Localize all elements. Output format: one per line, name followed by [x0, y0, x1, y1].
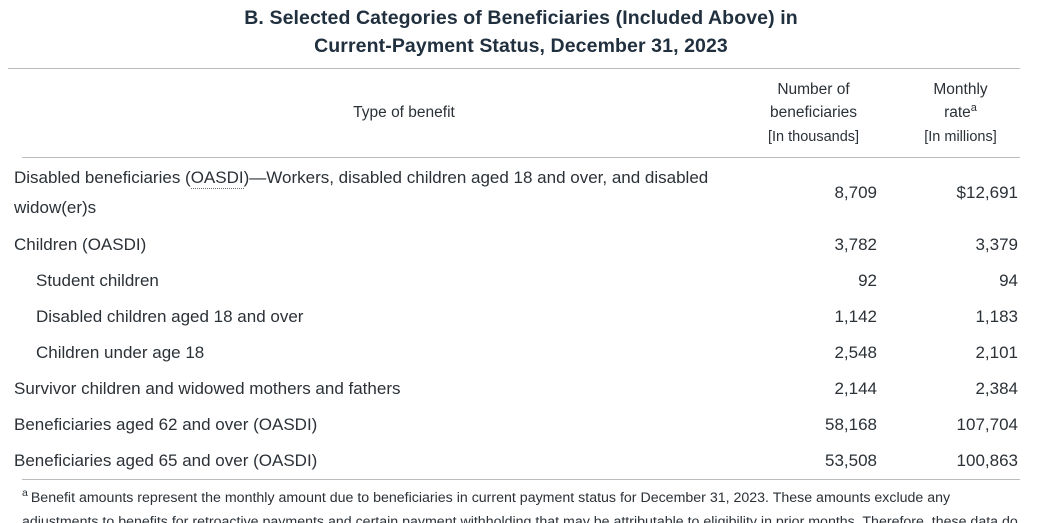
- footnote-marker-superscript: a: [971, 102, 977, 114]
- row-label-text: Disabled beneficiaries (: [14, 168, 191, 187]
- table-row: Survivor children and widowed mothers an…: [0, 371, 1042, 407]
- row-label-abbreviation: OASDI: [191, 168, 244, 189]
- cell-number-of-beneficiaries: 58,168: [748, 407, 903, 443]
- row-label: Children under age 18: [0, 335, 748, 371]
- footnote-marker: a: [22, 487, 31, 499]
- table-row: Beneficiaries aged 62 and over (OASDI)58…: [0, 407, 1042, 443]
- beneficiaries-table-body: Disabled beneficiaries (OASDI)—Workers, …: [0, 158, 1042, 479]
- cell-number-of-beneficiaries: 3,782: [748, 227, 903, 263]
- row-label: Children (OASDI): [0, 227, 748, 263]
- column-header-line-1: Monthly: [933, 81, 987, 98]
- cell-monthly-rate: 100,863: [903, 443, 1042, 479]
- table-bottom-rule: [22, 479, 1020, 480]
- table-row: Children (OASDI)3,7823,379: [0, 227, 1042, 263]
- table-header: Type of benefit Number of beneficiaries …: [0, 69, 1042, 157]
- cell-monthly-rate: 2,384: [903, 371, 1042, 407]
- page-title-line-2: Current-Payment Status, December 31, 202…: [110, 32, 932, 60]
- column-header-monthly-rate: Monthly ratea [In millions]: [903, 69, 1042, 157]
- row-label: Student children: [0, 263, 748, 299]
- table-body: Disabled beneficiaries (OASDI)—Workers, …: [0, 158, 1042, 479]
- column-header-line-2: beneficiaries: [770, 104, 857, 121]
- table-footnote: aBenefit amounts represent the monthly a…: [22, 487, 1020, 523]
- page-title: B. Selected Categories of Beneficiaries …: [0, 0, 1042, 60]
- table-row: Disabled beneficiaries (OASDI)—Workers, …: [0, 158, 1042, 227]
- column-header-number-of-beneficiaries: Number of beneficiaries [In thousands]: [748, 69, 903, 157]
- column-header-line-2: rate: [944, 104, 971, 121]
- table-row: Student children9294: [0, 263, 1042, 299]
- row-label: Disabled beneficiaries (OASDI)—Workers, …: [0, 158, 748, 227]
- table-row: Beneficiaries aged 65 and over (OASDI)53…: [0, 443, 1042, 479]
- cell-number-of-beneficiaries: 1,142: [748, 299, 903, 335]
- table-row: Disabled children aged 18 and over1,1421…: [0, 299, 1042, 335]
- row-label: Disabled children aged 18 and over: [0, 299, 748, 335]
- beneficiaries-table: Type of benefit Number of beneficiaries …: [0, 69, 1042, 157]
- cell-number-of-beneficiaries: 53,508: [748, 443, 903, 479]
- cell-monthly-rate: 107,704: [903, 407, 1042, 443]
- table-row: Children under age 182,5482,101: [0, 335, 1042, 371]
- cell-monthly-rate: 94: [903, 263, 1042, 299]
- cell-monthly-rate: 1,183: [903, 299, 1042, 335]
- table-header-row: Type of benefit Number of beneficiaries …: [0, 69, 1042, 157]
- footnote-text: Benefit amounts represent the monthly am…: [22, 490, 1018, 523]
- row-label: Survivor children and widowed mothers an…: [0, 371, 748, 407]
- cell-number-of-beneficiaries: 2,548: [748, 335, 903, 371]
- column-header-line-1: Number of: [777, 81, 849, 98]
- column-header-unit: [In millions]: [903, 124, 1018, 149]
- cell-number-of-beneficiaries: 2,144: [748, 371, 903, 407]
- table-page: B. Selected Categories of Beneficiaries …: [0, 0, 1042, 523]
- column-header-unit: [In thousands]: [748, 124, 879, 149]
- row-label: Beneficiaries aged 65 and over (OASDI): [0, 443, 748, 479]
- row-label: Beneficiaries aged 62 and over (OASDI): [0, 407, 748, 443]
- cell-number-of-beneficiaries: 92: [748, 263, 903, 299]
- page-title-line-1: B. Selected Categories of Beneficiaries …: [110, 4, 932, 32]
- cell-monthly-rate: 2,101: [903, 335, 1042, 371]
- cell-monthly-rate: $12,691: [903, 158, 1042, 227]
- column-header-type-of-benefit: Type of benefit: [0, 69, 748, 157]
- cell-number-of-beneficiaries: 8,709: [748, 158, 903, 227]
- cell-monthly-rate: 3,379: [903, 227, 1042, 263]
